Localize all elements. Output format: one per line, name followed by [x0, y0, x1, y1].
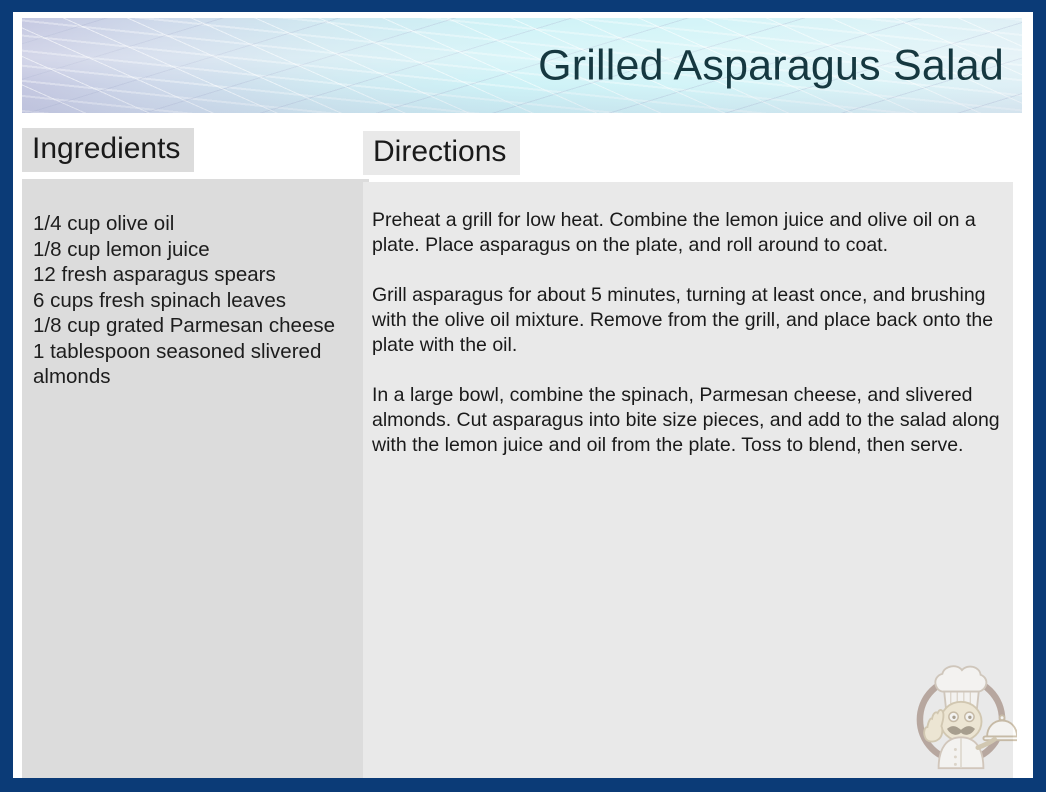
- list-item: 12 fresh asparagus spears: [33, 262, 359, 288]
- ingredients-body: 1/4 cup olive oil 1/8 cup lemon juice 12…: [22, 179, 369, 778]
- list-item: 1 tablespoon seasoned slivered almonds: [33, 339, 359, 390]
- list-item: 1/8 cup lemon juice: [33, 237, 359, 263]
- directions-steps: Preheat a grill for low heat. Combine th…: [372, 208, 1006, 483]
- directions-tab[interactable]: Directions: [363, 131, 520, 175]
- ingredients-panel: Ingredients 1/4 cup olive oil 1/8 cup le…: [22, 128, 369, 778]
- list-item: 1/4 cup olive oil: [33, 211, 359, 237]
- direction-step: Preheat a grill for low heat. Combine th…: [372, 208, 1006, 258]
- ingredients-list: 1/4 cup olive oil 1/8 cup lemon juice 12…: [33, 211, 359, 390]
- directions-body: Preheat a grill for low heat. Combine th…: [363, 182, 1013, 778]
- list-item: 1/8 cup grated Parmesan cheese: [33, 313, 359, 339]
- page-title: Grilled Asparagus Salad: [538, 41, 1004, 90]
- directions-panel: Directions Preheat a grill for low heat.…: [363, 131, 1013, 778]
- list-item: 6 cups fresh spinach leaves: [33, 288, 359, 314]
- direction-step: In a large bowl, combine the spinach, Pa…: [372, 383, 1006, 458]
- direction-step: Grill asparagus for about 5 minutes, tur…: [372, 283, 1006, 358]
- ingredients-tab[interactable]: Ingredients: [22, 128, 194, 172]
- title-banner: Grilled Asparagus Salad: [22, 18, 1022, 113]
- recipe-card: Grilled Asparagus Salad: [13, 12, 1033, 778]
